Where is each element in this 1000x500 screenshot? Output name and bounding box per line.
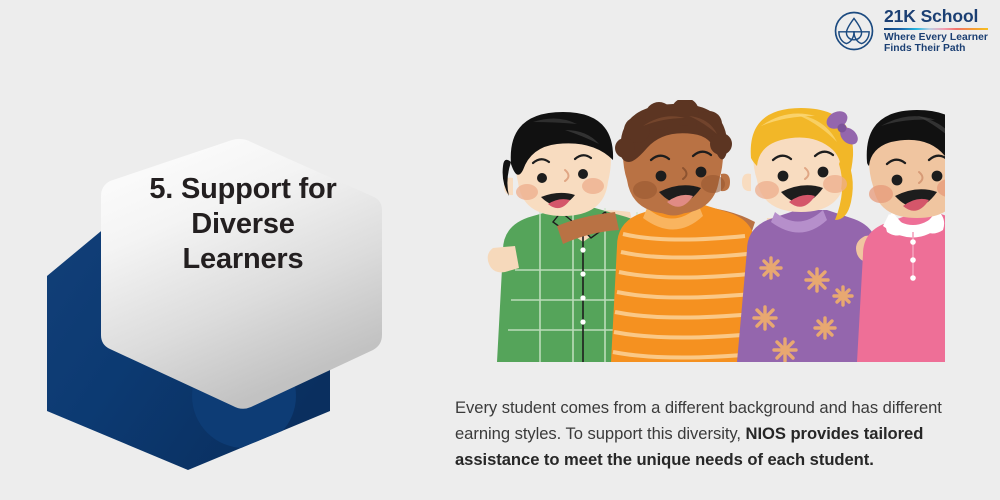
hexagon-title-card: 5. Support for Diverse Learners xyxy=(0,0,440,500)
brand-tagline-line1: Where Every Learner xyxy=(884,33,988,43)
lotus-circle-icon xyxy=(833,10,875,52)
description-paragraph: Every student comes from a different bac… xyxy=(455,395,949,474)
brand-logo-text: 21K School Where Every Learner Finds The… xyxy=(884,8,988,55)
brand-tagline-line2: Finds Their Path xyxy=(884,44,988,54)
children-illustration xyxy=(465,100,945,362)
child-long-black-hair-pink-polo xyxy=(856,110,945,362)
brand-name: 21K School xyxy=(884,8,988,26)
brand-logo[interactable]: 21K School Where Every Learner Finds The… xyxy=(833,8,988,55)
slide-canvas: 21K School Where Every Learner Finds The… xyxy=(0,0,1000,500)
card-title: 5. Support for Diverse Learners xyxy=(112,172,374,276)
brand-gradient-rule xyxy=(884,28,988,31)
